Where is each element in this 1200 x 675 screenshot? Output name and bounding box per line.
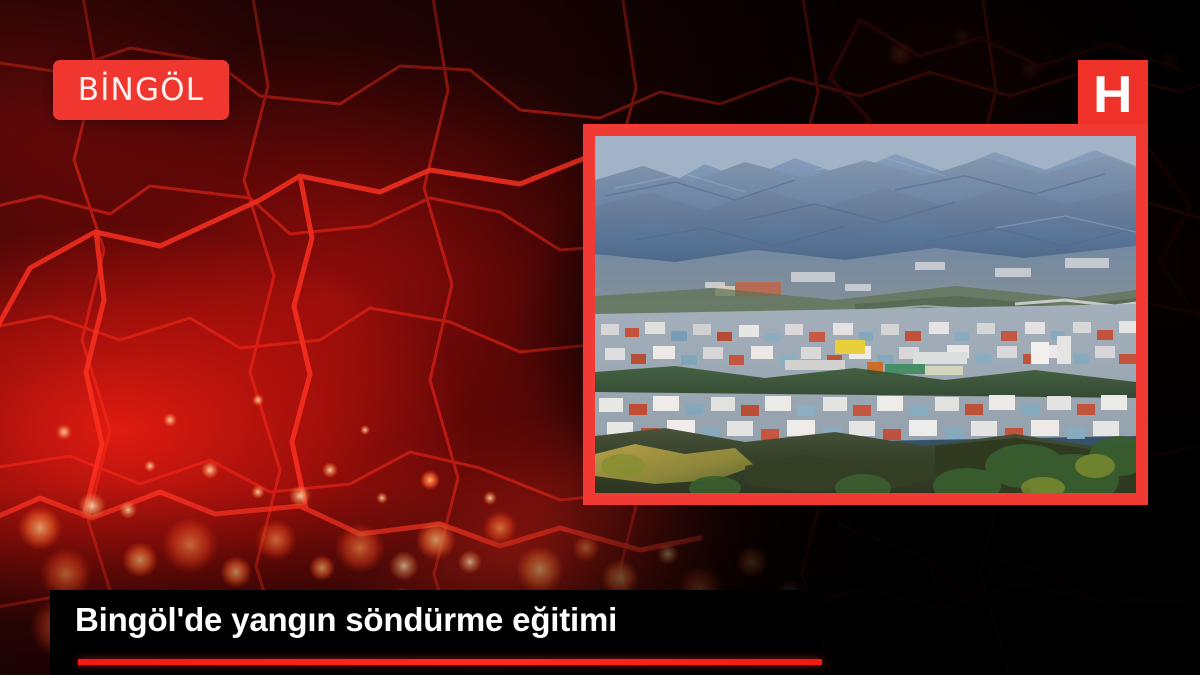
brand-h-icon[interactable]: H [1078,60,1148,130]
news-card-canvas: BİNGÖL H [0,0,1200,675]
city-tag-badge[interactable]: BİNGÖL [53,60,229,120]
brand-h-letter: H [1093,69,1132,121]
aerial-city-photo [595,136,1136,493]
news-headline: Bingöl'de yangın söndürme eğitimi [75,598,617,643]
headline-bar: Bingöl'de yangın söndürme eğitimi [50,590,822,675]
underline-rule-icon [78,659,822,665]
city-tag-label: BİNGÖL [78,75,205,106]
photo-frame-icon[interactable] [583,124,1148,505]
